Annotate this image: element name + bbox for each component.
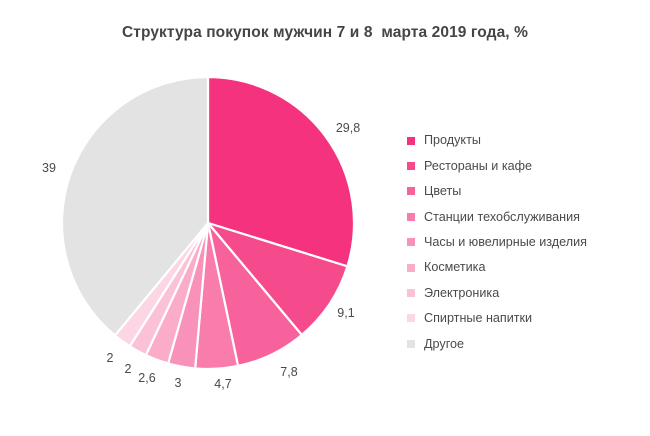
pie-slice-group [62, 77, 354, 369]
legend-item-label: Косметика [424, 261, 485, 274]
legend-item[interactable]: Рестораны и кафе [404, 153, 644, 178]
pie-value-label: 4,7 [214, 377, 231, 391]
legend-item-label: Продукты [424, 134, 481, 147]
legend-item[interactable]: Другое [404, 331, 644, 356]
pie-svg [60, 72, 360, 372]
legend-item-label: Другое [424, 338, 464, 351]
legend-color-swatch-icon [407, 213, 415, 221]
legend-item-label: Цветы [424, 185, 461, 198]
pie-chart-plot [60, 72, 360, 372]
legend-item[interactable]: Спиртные напитки [404, 306, 644, 331]
page-title: Структура покупок мужчин 7 и 8 марта 201… [0, 24, 650, 42]
legend-item[interactable]: Электроника [404, 280, 644, 305]
pie-value-label: 3 [175, 376, 182, 390]
legend-color-swatch-icon [407, 137, 415, 145]
pie-chart-page: Структура покупок мужчин 7 и 8 марта 201… [0, 0, 650, 436]
pie-value-label: 39 [42, 161, 56, 175]
legend-item-label: Электроника [424, 287, 499, 300]
pie-value-label: 2,6 [138, 371, 155, 385]
legend-color-swatch-icon [407, 314, 415, 322]
legend-item[interactable]: Косметика [404, 255, 644, 280]
legend-color-swatch-icon [407, 340, 415, 348]
legend-color-swatch-icon [407, 162, 415, 170]
legend-item-label: Станции техобслуживания [424, 211, 580, 224]
legend-item-label: Рестораны и кафе [424, 160, 532, 173]
legend-item[interactable]: Цветы [404, 179, 644, 204]
legend-item-label: Спиртные напитки [424, 312, 532, 325]
legend-color-swatch-icon [407, 238, 415, 246]
legend-item-label: Часы и ювелирные изделия [424, 236, 587, 249]
legend-color-swatch-icon [407, 264, 415, 272]
legend-color-swatch-icon [407, 187, 415, 195]
legend-color-swatch-icon [407, 289, 415, 297]
legend-item[interactable]: Станции техобслуживания [404, 204, 644, 229]
chart-legend: ПродуктыРестораны и кафеЦветыСтанции тех… [404, 128, 644, 357]
legend-item[interactable]: Продукты [404, 128, 644, 153]
legend-item[interactable]: Часы и ювелирные изделия [404, 230, 644, 255]
